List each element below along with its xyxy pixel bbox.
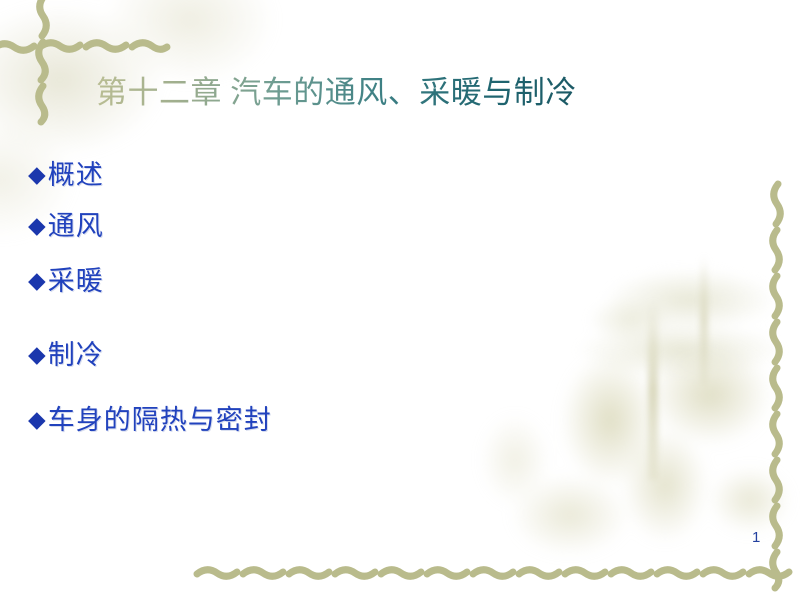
list-item-label: 概述 [48,162,104,189]
decoration-vertical-rule-right [762,180,794,592]
list-item-label: 车身的隔热与密封 [48,407,272,434]
diamond-bullet-icon: ◆ [28,408,46,431]
list-item[interactable]: ◆ 车身的隔热与密封 [28,407,688,434]
list-item[interactable]: ◆ 概述 [28,162,688,189]
presentation-slide: 第十二章 汽车的通风、采暖与制冷 ◆ 概述 ◆ 通风 ◆ 采暖 ◆ 制冷 ◆ 车… [0,0,800,600]
list-item[interactable]: ◆ 采暖 [28,268,688,295]
list-item[interactable]: ◆ 通风 [28,213,688,240]
list-item-label: 制冷 [48,342,104,369]
list-item-label: 通风 [48,213,104,240]
list-item-label: 采暖 [48,268,104,295]
bullet-list: ◆ 概述 ◆ 通风 ◆ 采暖 ◆ 制冷 ◆ 车身的隔热与密封 [28,162,688,434]
list-item[interactable]: ◆ 制冷 [28,342,688,369]
decoration-horizontal-rule-top [0,31,170,61]
diamond-bullet-icon: ◆ [28,163,46,186]
diamond-bullet-icon: ◆ [28,343,46,366]
diamond-bullet-icon: ◆ [28,214,46,237]
decoration-vertical-rule-left [28,0,60,126]
decoration-horizontal-rule-bottom [195,558,800,588]
page-number: 1 [752,529,760,546]
slide-title: 第十二章 汽车的通风、采暖与制冷 [96,74,696,113]
watermark-stem-right [700,255,708,385]
diamond-bullet-icon: ◆ [28,269,46,292]
